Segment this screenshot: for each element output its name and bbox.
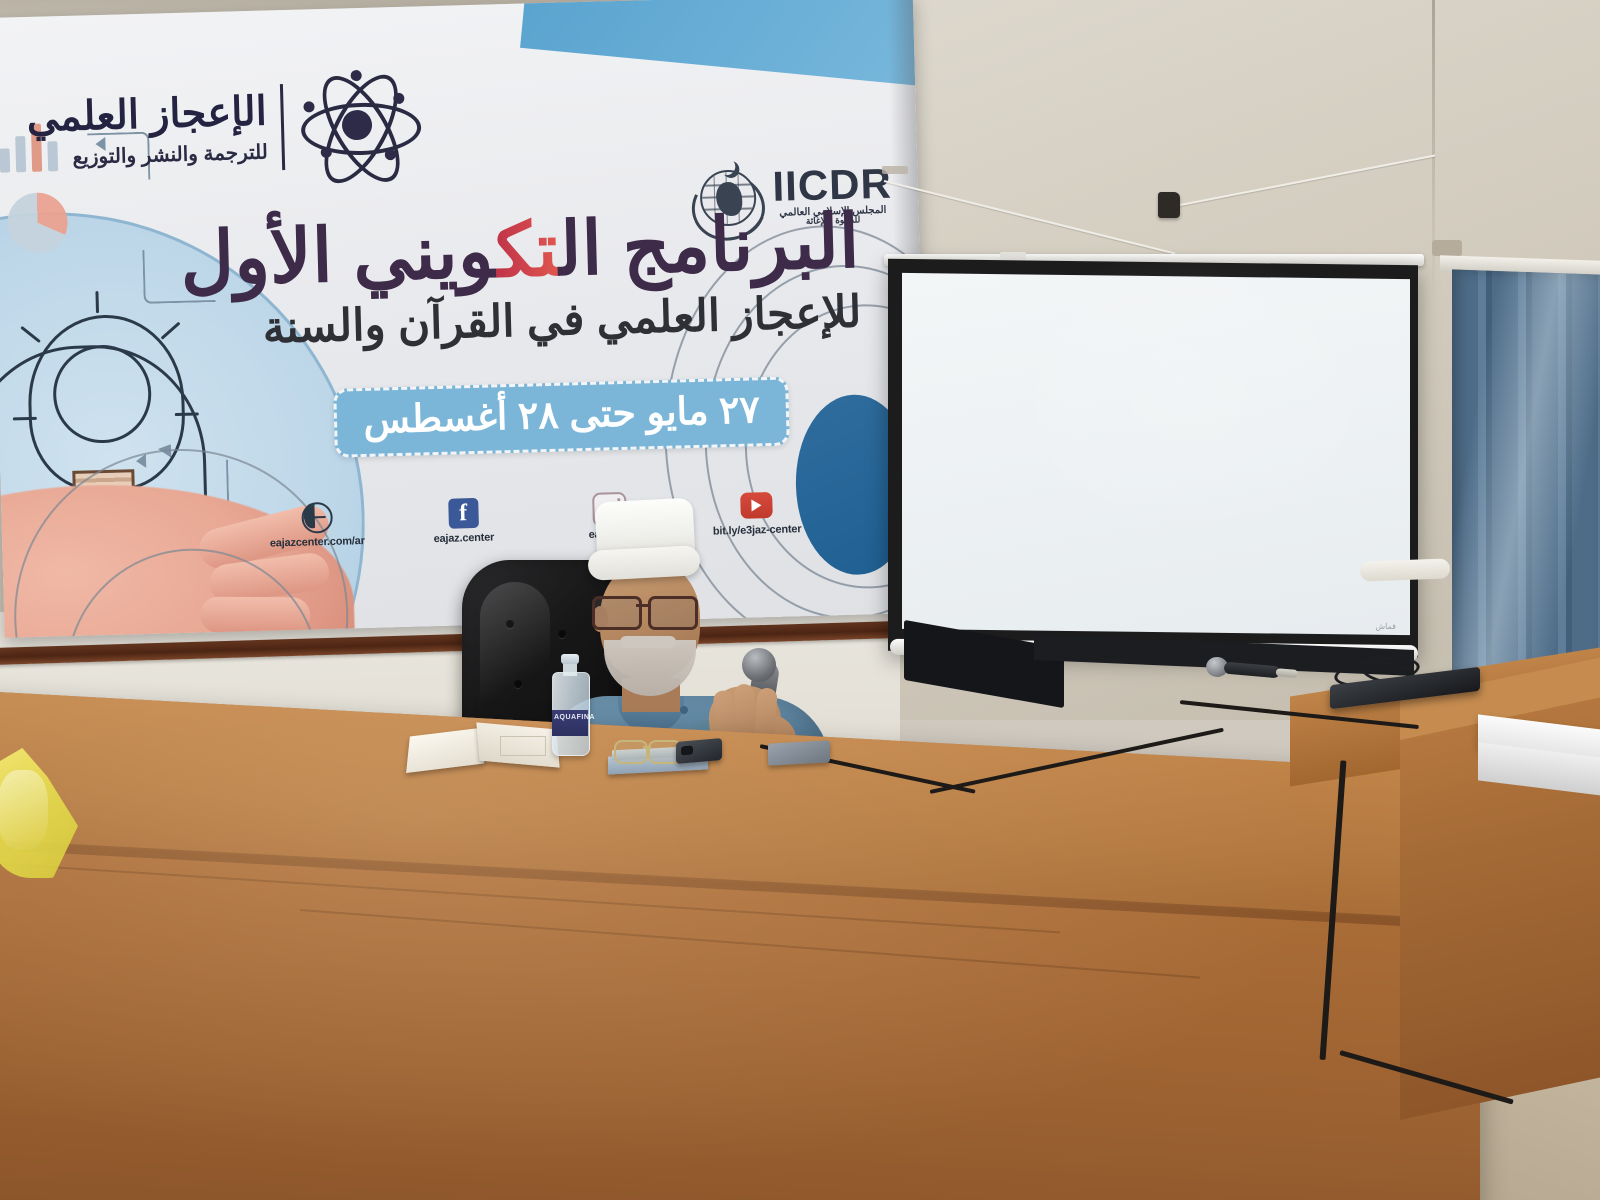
mobile-phone [676,740,722,762]
banner-headline: البرنامج التكويني الأول للإعجاز العلمي ف… [159,203,862,357]
bottle-cap [561,654,579,664]
headline-suffix: ويني الأول [179,209,497,301]
wall-conduit [1360,558,1451,581]
yellow-bag [0,748,78,878]
water-bottle: AQUAFINA [552,658,588,754]
wall-anchor [882,166,908,174]
screen-frame: قماش [888,259,1418,657]
projection-screen: قماش [884,232,1424,662]
head-table [0,690,1480,1200]
date-badge: ٢٧ مايو حتى ٢٨ أغسطس [334,376,790,457]
laptop-device [1330,666,1480,702]
atom-icon [297,64,418,185]
screen-brand-mark: قماش [1375,622,1396,631]
logo-divider [280,84,285,170]
open-book [408,726,556,772]
ceiling-hook [1158,192,1180,218]
second-phone [768,742,830,764]
logo-title: الإعجاز العلمي [26,91,267,137]
collar-button [680,706,688,714]
social-facebook-label: eajaz.center [404,531,524,546]
headline-prefix: البرنامج ال [558,200,861,291]
facebook-icon: f [448,498,479,529]
banner-blue-corner [520,0,929,88]
bottle-brand: AQUAFINA [554,714,586,721]
social-website[interactable]: eajazcenter.com/ar [256,500,377,550]
curtain-bracket [1432,240,1462,256]
screen-surface [902,273,1410,635]
white-appliance [1478,722,1600,790]
logo-subtitle: للترجمة والنشر والتوزيع [27,139,268,170]
crescent-icon [718,158,735,175]
beard [604,640,696,696]
mustache [620,636,676,648]
photo-scene: الإعجاز العلمي للترجمة والنشر والتوزيع [0,0,1600,1200]
globe-icon [301,501,333,533]
social-facebook[interactable]: f eajaz.center [403,496,524,546]
eyeglasses-worn [592,596,704,624]
headline-main: البرنامج التكويني الأول [159,203,861,300]
turban-band [587,545,700,581]
headline-highlight: تك [495,208,560,293]
eajaz-logo: الإعجاز العلمي للترجمة والنشر والتوزيع [26,64,418,192]
